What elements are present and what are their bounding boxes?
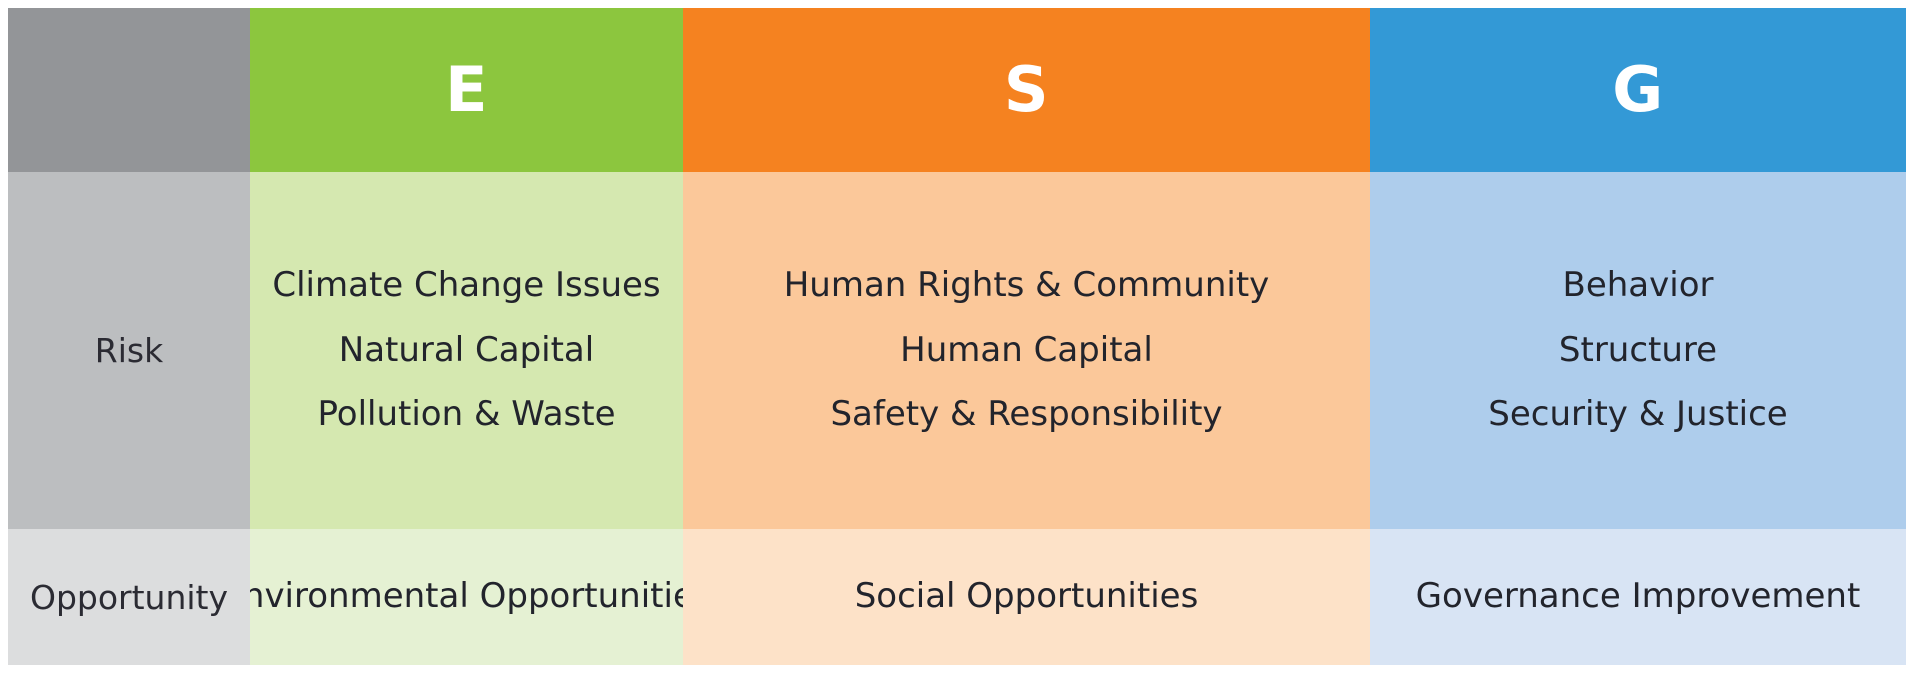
cell-risk-social: Human Rights & Community Human Capital S… [683,172,1370,529]
cell-opportunity-governance: Governance Improvement [1370,529,1906,665]
row-label-opportunity: Opportunity [8,529,250,665]
list-item: Climate Change Issues [272,267,660,304]
header-environmental: E [250,8,683,172]
item-list: Climate Change Issues Natural Capital Po… [250,267,683,433]
cell-risk-governance: Behavior Structure Security & Justice [1370,172,1906,529]
header-governance: G [1370,8,1906,172]
cell-risk-environmental: Climate Change Issues Natural Capital Po… [250,172,683,529]
list-item: Environmental Opportunities [250,578,683,615]
list-item: Structure [1559,332,1717,369]
list-item: Behavior [1563,267,1714,304]
list-item: Human Rights & Community [784,267,1270,304]
item-list: Behavior Structure Security & Justice [1370,267,1906,433]
list-item: Security & Justice [1488,396,1787,433]
cell-opportunity-social: Social Opportunities [683,529,1370,665]
header-corner-blank [8,8,250,172]
esg-matrix-table: E S G Risk Climate Change Issues Natural… [8,8,1906,665]
header-social: S [683,8,1370,172]
item-list: Human Rights & Community Human Capital S… [683,267,1370,433]
list-item: Human Capital [900,332,1153,369]
list-item: Governance Improvement [1416,578,1861,615]
list-item: Safety & Responsibility [830,396,1222,433]
list-item: Pollution & Waste [317,396,615,433]
list-item: Natural Capital [339,332,594,369]
list-item: Social Opportunities [855,578,1199,615]
row-label-risk: Risk [8,172,250,529]
cell-opportunity-environmental: Environmental Opportunities [250,529,683,665]
